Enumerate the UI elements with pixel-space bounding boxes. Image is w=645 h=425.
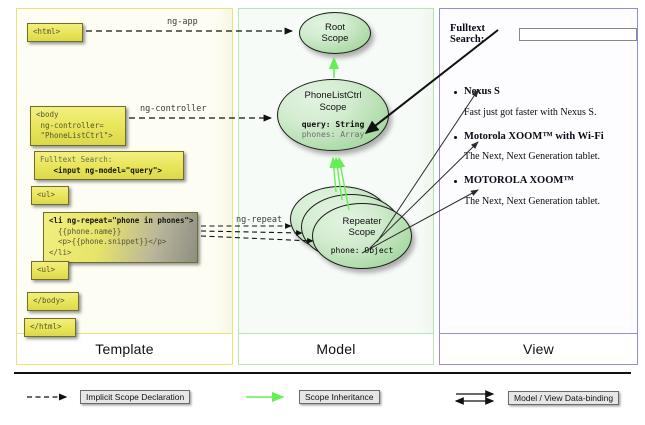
node-phonelistctrl-scope: PhoneListCtrl Scope query: String phones… — [277, 79, 389, 151]
phone-name: Nexus S — [464, 85, 500, 99]
column-template-label: Template — [95, 341, 153, 357]
code-box-fulltext-search: Fulltext Search: <input ng-model="query"… — [34, 151, 184, 180]
phone-name-row: MOTOROLA XOOM™ — [454, 174, 631, 188]
view-search-row: Fulltext Search: — [450, 23, 637, 45]
legend-dashed-arrow-icon — [26, 392, 74, 402]
legend-item-implicit-scope-declaration: Implicit Scope Declaration — [26, 390, 190, 404]
bullet-icon — [454, 136, 457, 139]
code-li-line3: <p>{{phone.snippet}}</p> — [49, 237, 166, 246]
node-root-scope: Root Scope — [299, 12, 371, 54]
legend-item-model-view-data-binding: Model / View Data-binding — [454, 390, 619, 406]
code-box-ul-open: <ul> — [31, 186, 69, 205]
phone-name-row: Nexus S — [454, 85, 631, 99]
code-search-input: <input ng-model="query"> — [54, 166, 162, 175]
legend-label: Implicit Scope Declaration — [80, 390, 190, 404]
column-model-label: Model — [316, 341, 355, 357]
phone-snippet: Fast just got faster with Nexus S. — [464, 106, 631, 119]
legend-rule — [14, 372, 631, 374]
phone-snippet: The Next, Next Generation tablet. — [464, 195, 631, 208]
column-view-footer: View — [440, 334, 637, 364]
phone-name: Motorola XOOM™ with Wi-Fi — [464, 130, 604, 144]
code-box-html-close: </html> — [24, 318, 76, 337]
phonelistctrl-scope-attrs: query: String phones: Array — [302, 120, 365, 140]
edge-label-ng-controller: ng-controller — [140, 104, 207, 114]
phone-name-row: Motorola XOOM™ with Wi-Fi — [454, 130, 631, 144]
search-input[interactable] — [519, 28, 637, 41]
diagram-root: Template <html> <body ng-controller= "Ph… — [0, 0, 645, 425]
code-box-body-open: <body ng-controller= "PhoneListCtrl"> — [30, 106, 126, 146]
code-li-line4: </li> — [49, 248, 72, 257]
code-li-line2: {{phone.name}} — [49, 227, 121, 236]
phone-list: Nexus S Fast just got faster with Nexus … — [454, 85, 631, 219]
bullet-icon — [454, 180, 457, 183]
legend-item-scope-inheritance: Scope Inheritance — [245, 390, 380, 404]
list-item: Motorola XOOM™ with Wi-Fi The Next, Next… — [454, 130, 631, 164]
node-repeater-scope: Repeater Scope phone: Object — [312, 203, 412, 269]
edge-label-ng-repeat: ng-repeat — [236, 215, 282, 225]
code-li-line1: <li ng-repeat="phone in phones"> — [49, 216, 194, 225]
code-box-html-open: <html> — [27, 23, 83, 42]
edge-label-ng-app: ng-app — [167, 17, 198, 27]
column-view-label: View — [523, 341, 554, 357]
bullet-icon — [454, 91, 457, 94]
phonelistctrl-attr-phones: phones: Array — [302, 130, 365, 140]
repeater-scope-title: Repeater Scope — [342, 216, 381, 238]
phone-name: MOTOROLA XOOM™ — [464, 174, 574, 188]
legend: Implicit Scope Declaration Scope Inherit… — [14, 372, 631, 416]
code-box-li-ng-repeat: <li ng-repeat="phone in phones"> {{phone… — [43, 212, 198, 263]
legend-label: Scope Inheritance — [299, 390, 380, 404]
phone-snippet: The Next, Next Generation tablet. — [464, 150, 631, 163]
code-search-label: Fulltext Search: — [40, 155, 112, 164]
phonelistctrl-attr-query: query: String — [302, 120, 365, 130]
legend-double-arrow-icon — [454, 390, 502, 406]
column-model-footer: Model — [239, 334, 433, 364]
column-view: Fulltext Search: Nexus S Fast just got f… — [439, 8, 638, 365]
repeater-attr-phone: phone: Object — [331, 246, 394, 256]
view-search-label: Fulltext Search: — [450, 23, 514, 45]
column-template-footer: Template — [17, 334, 232, 364]
view-content: Fulltext Search: Nexus S Fast just got f… — [440, 9, 637, 334]
legend-label: Model / View Data-binding — [508, 391, 619, 405]
code-box-ul-close: <ul> — [31, 261, 69, 280]
list-item: Nexus S Fast just got faster with Nexus … — [454, 85, 631, 119]
legend-green-arrow-icon — [245, 392, 293, 402]
phonelistctrl-scope-title: PhoneListCtrl Scope — [304, 90, 361, 112]
list-item: MOTOROLA XOOM™ The Next, Next Generation… — [454, 174, 631, 208]
root-scope-title: Root Scope — [322, 22, 349, 44]
code-box-body-close: </body> — [27, 292, 79, 311]
